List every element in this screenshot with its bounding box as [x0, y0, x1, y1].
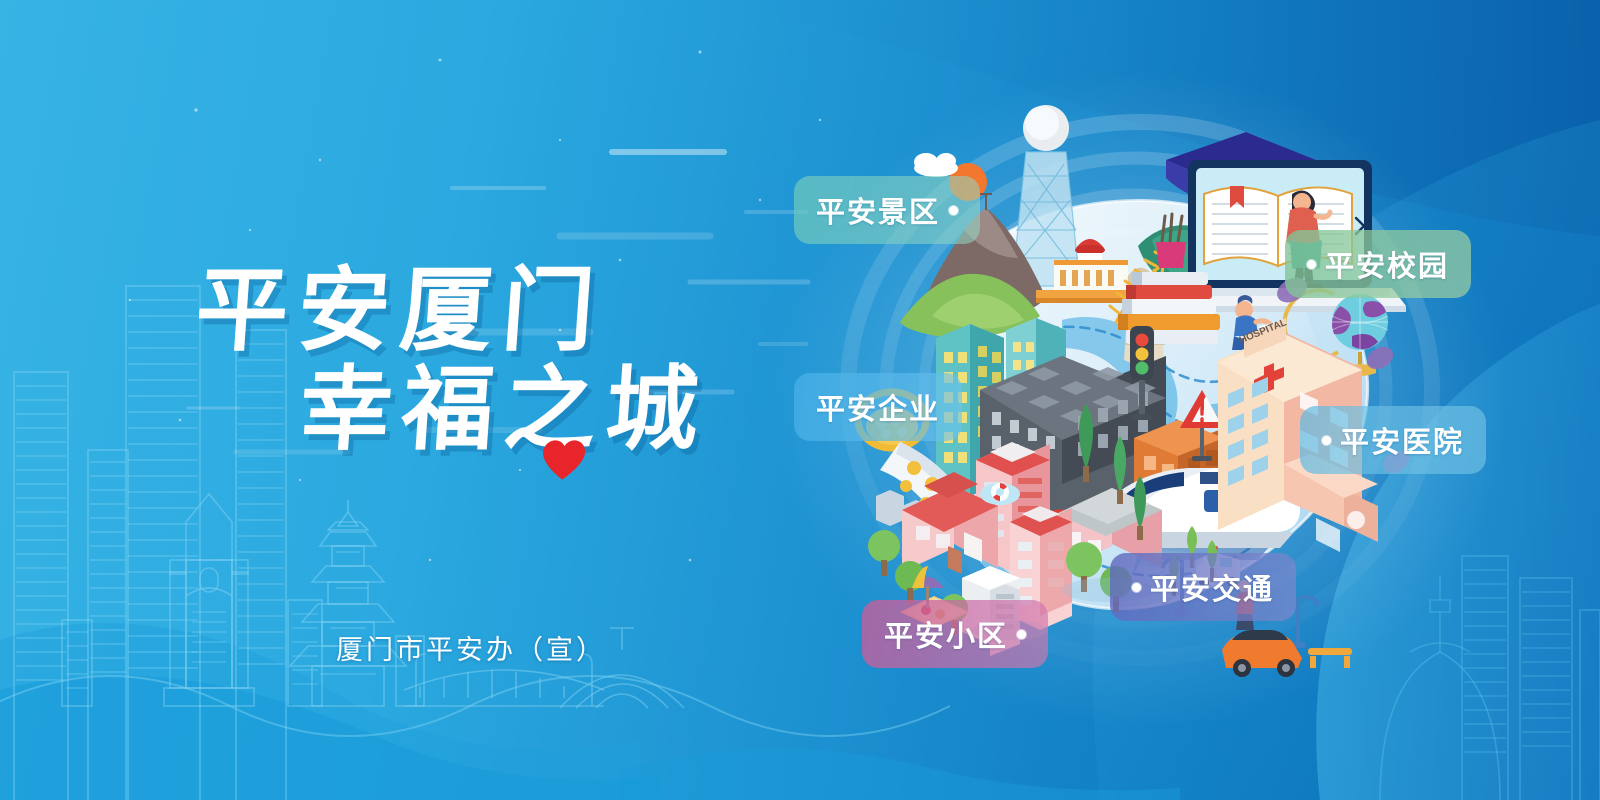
dot-icon [1132, 583, 1141, 592]
pool-icon [980, 483, 1020, 505]
title-line-2: 幸福之城 [297, 361, 800, 460]
map-label-community[interactable]: 平安小区 [862, 600, 1048, 668]
map-label-hospital-text: 平安医院 [1340, 419, 1464, 461]
map-label-hospital[interactable]: 平安医院 [1300, 406, 1486, 474]
map-label-traffic[interactable]: 平安交通 [1110, 553, 1296, 621]
map-label-company[interactable]: 平安企业 [794, 373, 962, 441]
map-label-community-text: 平安小区 [884, 613, 1008, 655]
map-label-company-text: 平安企业 [816, 386, 940, 428]
map-label-scenic-text: 平安景区 [816, 189, 940, 231]
page-title: 平安厦门 幸福之城 [196, 262, 796, 461]
title-line-1: 平安厦门 [193, 262, 800, 361]
dot-icon [1017, 630, 1026, 639]
cloud-icon [914, 153, 958, 177]
heart-icon [539, 439, 588, 481]
publisher-subtitle: 厦门市平安办（宣） [336, 628, 606, 667]
dot-icon [1322, 436, 1331, 445]
bench-icon [1308, 648, 1352, 668]
promo-banner: 平安厦门 幸福之城 厦门市平安办（宣） [0, 0, 1600, 800]
lifebuoy-icon [991, 483, 1009, 501]
dot-icon [1307, 260, 1316, 269]
dot-icon [949, 206, 958, 215]
map-label-scenic[interactable]: 平安景区 [794, 176, 980, 244]
map-label-traffic-text: 平安交通 [1150, 566, 1274, 608]
map-label-campus[interactable]: 平安校园 [1285, 230, 1471, 298]
title-line-2-text: 幸福之城 [296, 359, 711, 461]
map-label-campus-text: 平安校园 [1325, 243, 1449, 285]
